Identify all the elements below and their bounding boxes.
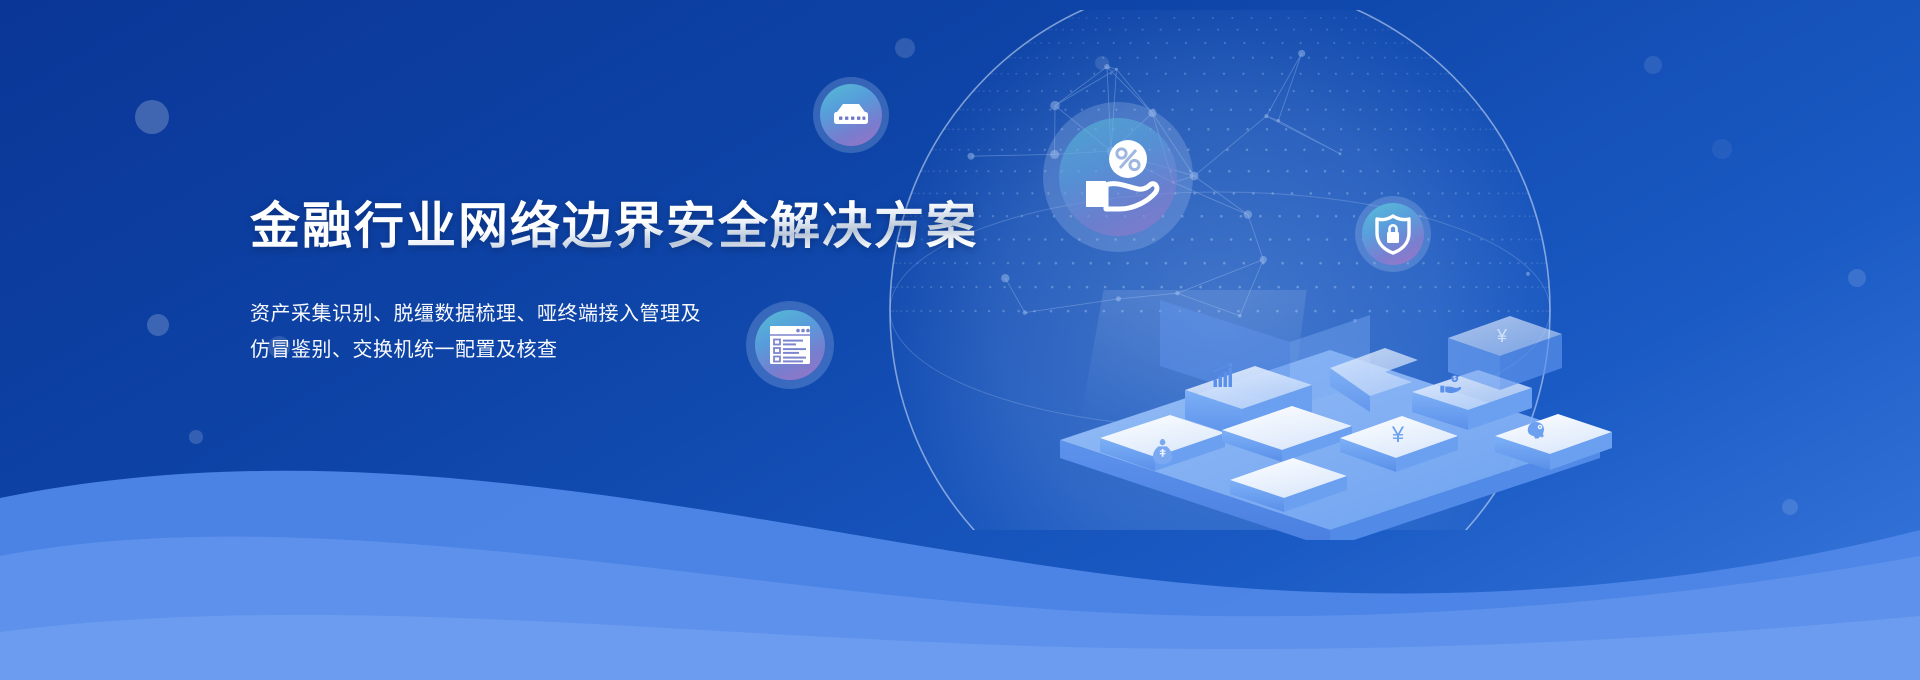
decor-circle xyxy=(147,314,169,336)
yen-small-icon: ¥ xyxy=(1496,326,1508,346)
banner-hero: ¥ $ ¥ xyxy=(0,0,1920,680)
percent-hand-icon xyxy=(1043,102,1193,252)
shield-glyph xyxy=(1355,196,1431,272)
page-title: 金融行业网络边界安全解决方案 xyxy=(250,196,1010,256)
bottom-waves xyxy=(0,380,1920,680)
page-subtitle: 资产采集识别、脱缰数据梳理、哑终端接入管理及 仿冒鉴别、交换机统一配置及核查 xyxy=(250,296,1010,368)
decor-circle xyxy=(1644,56,1662,74)
percent-glyph xyxy=(1043,102,1193,252)
subtitle-line-1: 资产采集识别、脱缰数据梳理、哑终端接入管理及 xyxy=(250,296,1010,332)
decor-circle xyxy=(1848,269,1866,287)
hero-text-block: 金融行业网络边界安全解决方案 资产采集识别、脱缰数据梳理、哑终端接入管理及 仿冒… xyxy=(250,196,1010,368)
decor-circle xyxy=(1712,139,1732,159)
switch-glyph xyxy=(813,77,889,153)
subtitle-line-2: 仿冒鉴别、交换机统一配置及核查 xyxy=(250,332,1010,368)
shield-lock-icon xyxy=(1355,196,1431,272)
waves-svg xyxy=(0,380,1920,680)
decor-circle xyxy=(135,100,169,134)
network-switch-icon xyxy=(813,77,889,153)
